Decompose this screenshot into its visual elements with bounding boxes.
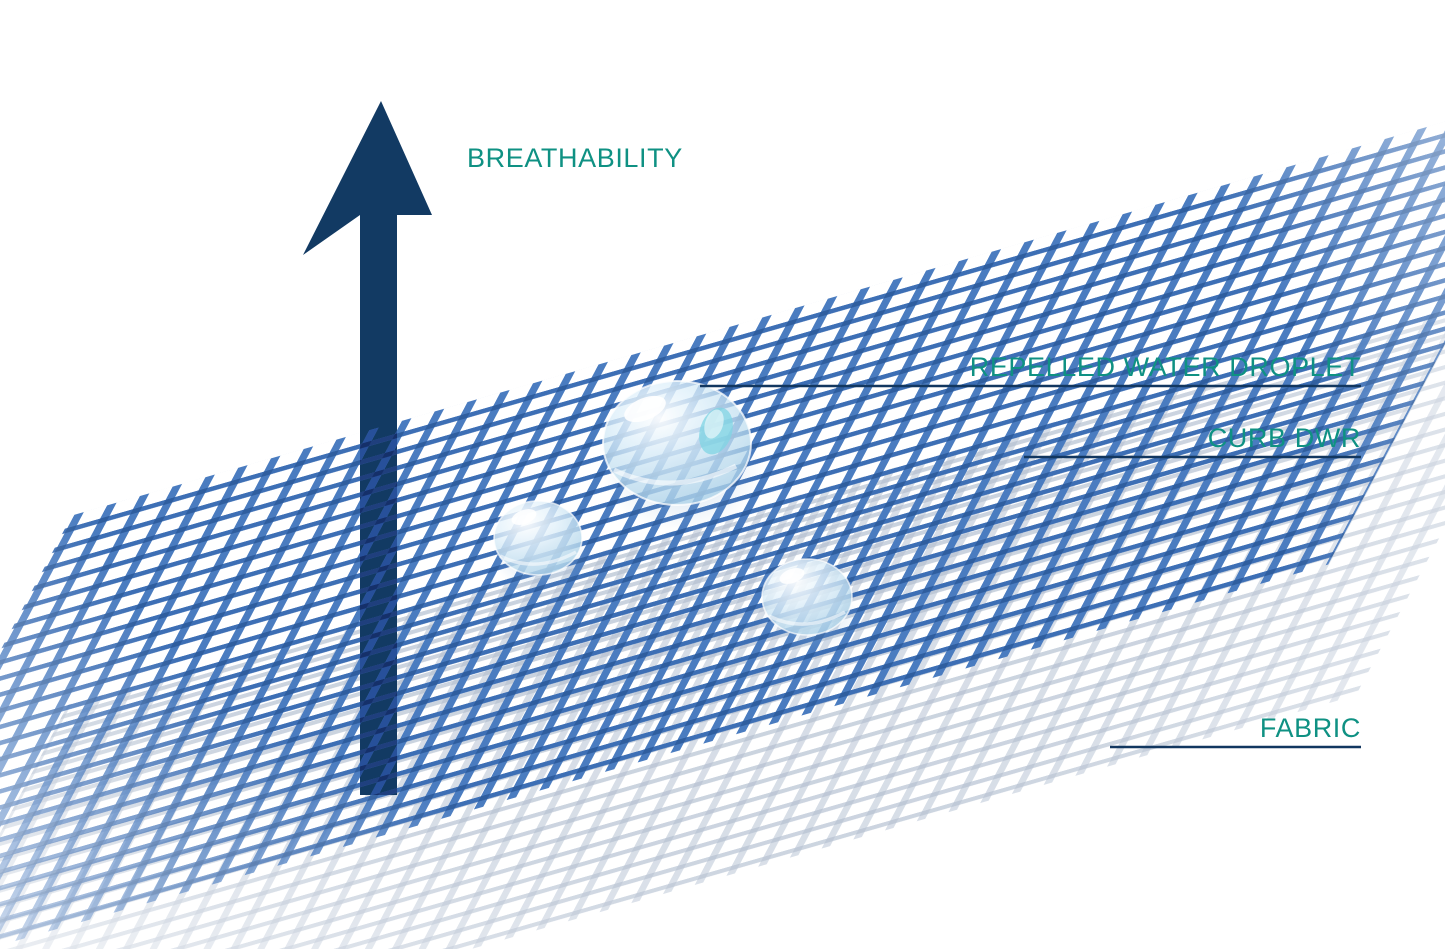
callout-label-curb-dwr: CURB DWR	[1208, 423, 1361, 454]
callout-label-repelled-water-droplet: REPELLED WATER DROPLET	[970, 352, 1361, 383]
callout-label-fabric: FABRIC	[1260, 713, 1361, 744]
diagram-svg	[0, 0, 1445, 949]
diagram-canvas	[0, 0, 1445, 949]
callout-label-breathability: BREATHABILITY	[467, 143, 683, 174]
